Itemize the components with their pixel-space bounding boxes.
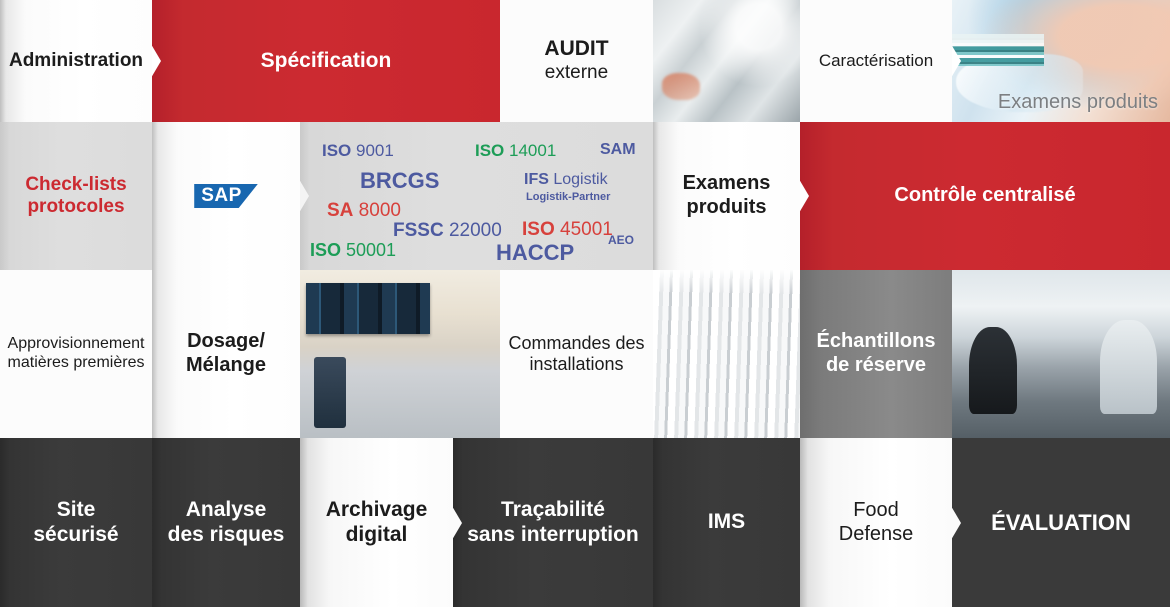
controle-centralise-label: Contrôle centralisé xyxy=(888,184,1081,208)
certification-cloud: ISO 9001 ISO 14001 SAM BRCGS IFS Logisti… xyxy=(300,122,653,270)
audit-word: AUDIT xyxy=(544,37,608,60)
cell-sap[interactable]: SAP xyxy=(152,122,300,270)
tracabilite-label: Traçabilité sans interruption xyxy=(461,498,645,548)
cell-audit-externe[interactable]: AUDIT externe xyxy=(500,0,653,122)
food-line2: Defense xyxy=(839,523,914,545)
analyse-line2: des risques xyxy=(168,523,285,546)
trac-line2: sans interruption xyxy=(467,523,639,546)
cert-fssc-22000: FSSC 22000 xyxy=(393,221,502,240)
dosage-line1: Dosage/ xyxy=(187,330,265,352)
cell-tracabilite[interactable]: Traçabilité sans interruption xyxy=(453,438,653,607)
cell-caracterisation[interactable]: Caractérisation xyxy=(800,0,952,122)
chevron-right-icon xyxy=(800,179,815,213)
ims-label: IMS xyxy=(702,510,751,535)
food-defense-label: Food Defense xyxy=(833,499,920,546)
cert-sam: SAM xyxy=(600,142,636,158)
dosage-line2: Mélange xyxy=(186,354,266,376)
cell-evaluation[interactable]: ÉVALUATION xyxy=(952,438,1170,607)
echantillons-line1: Échantillons xyxy=(817,330,936,352)
cell-check-lists[interactable]: Check-lists protocoles xyxy=(0,122,152,270)
echantillons-line2: de réserve xyxy=(826,354,926,376)
audit-externe-label: AUDIT externe xyxy=(538,37,614,84)
cell-photo-sample-tubes xyxy=(653,270,800,438)
examens-line2: produits xyxy=(687,196,767,218)
chart-strip-decor xyxy=(952,34,1044,66)
cell-ims[interactable]: IMS xyxy=(653,438,800,607)
food-line1: Food xyxy=(853,499,899,521)
administration-label: Administration xyxy=(3,50,149,72)
cell-controle-centralise[interactable]: Contrôle centralisé xyxy=(800,122,1170,270)
quality-matrix-diagram: Administration Spécification AUDIT exter… xyxy=(0,0,1170,607)
approv-line1: Approvisionnement xyxy=(8,335,145,352)
sap-logo: SAP xyxy=(194,184,258,208)
check-lists-line1: Check-lists xyxy=(25,174,126,195)
examens-line1: Examens xyxy=(683,172,771,194)
cert-iso-14001: ISO 14001 xyxy=(475,142,556,159)
check-lists-label: Check-lists protocoles xyxy=(19,174,132,219)
cert-iso-9001: ISO 9001 xyxy=(322,142,394,159)
cell-commandes-installations[interactable]: Commandes des installations xyxy=(500,270,653,438)
evaluation-label: ÉVALUATION xyxy=(985,510,1137,536)
cert-brcgs: BRCGS xyxy=(360,170,439,192)
cell-photo-team-meeting xyxy=(952,270,1170,438)
control-room-photo xyxy=(300,270,500,438)
cell-archivage-digital[interactable]: Archivage digital xyxy=(300,438,453,607)
cell-examens-produits[interactable]: Examens produits xyxy=(653,122,800,270)
externe-word: externe xyxy=(545,62,608,83)
cell-specification[interactable]: Spécification xyxy=(152,0,500,122)
cell-approvisionnement[interactable]: Approvisionnement matières premières xyxy=(0,270,152,438)
team-meeting-photo xyxy=(952,270,1170,438)
examens-produits-label: Examens produits xyxy=(677,172,777,219)
analyse-risques-label: Analyse des risques xyxy=(162,498,291,548)
cert-iso-50001: ISO 50001 xyxy=(310,241,396,259)
cert-iso-45001: ISO 45001 xyxy=(522,220,613,239)
archivage-label: Archivage digital xyxy=(320,498,434,548)
cert-sa-8000: SA 8000 xyxy=(327,201,401,220)
archivage-line1: Archivage xyxy=(326,498,428,521)
echantillons-label: Échantillons de réserve xyxy=(811,330,942,377)
cell-dosage-melange[interactable]: Dosage/ Mélange xyxy=(152,270,300,438)
cert-logistik-partner: Logistik-Partner xyxy=(526,192,610,203)
commandes-line1: Commandes des xyxy=(508,333,644,353)
approvisionnement-label: Approvisionnement matières premières xyxy=(2,335,151,373)
check-lists-line2: protocoles xyxy=(27,196,124,217)
cell-photo-clean-room xyxy=(653,0,800,122)
commandes-label: Commandes des installations xyxy=(502,333,650,375)
site-securise-label: Site sécurisé xyxy=(27,498,124,548)
cell-analyse-risques[interactable]: Analyse des risques xyxy=(152,438,300,607)
cell-food-defense[interactable]: Food Defense xyxy=(800,438,952,607)
approv-line2: matières premières xyxy=(8,354,145,371)
cell-photo-microscope: Examens produits xyxy=(952,0,1170,122)
dosage-melange-label: Dosage/ Mélange xyxy=(180,330,272,377)
sample-tubes-photo xyxy=(653,270,800,438)
chevron-right-icon xyxy=(152,44,167,78)
analyse-line1: Analyse xyxy=(186,498,267,521)
cert-ifs-logistik: IFS Logistik xyxy=(524,172,608,188)
clean-room-photo xyxy=(653,0,800,122)
commandes-line2: installations xyxy=(529,354,623,374)
specification-label: Spécification xyxy=(255,49,398,74)
cell-certifications[interactable]: ISO 9001 ISO 14001 SAM BRCGS IFS Logisti… xyxy=(300,122,653,270)
cert-aeo: AEO xyxy=(608,234,634,246)
site-line1: Site xyxy=(57,498,96,521)
chevron-right-icon xyxy=(952,506,967,540)
cell-administration[interactable]: Administration xyxy=(0,0,152,122)
archivage-line2: digital xyxy=(346,523,408,546)
trac-line1: Traçabilité xyxy=(501,498,605,521)
cell-site-securise[interactable]: Site sécurisé xyxy=(0,438,152,607)
site-line2: sécurisé xyxy=(33,523,118,546)
cell-echantillons-reserve[interactable]: Échantillons de réserve xyxy=(800,270,952,438)
examens-produits-watermark: Examens produits xyxy=(998,91,1158,115)
caracterisation-label: Caractérisation xyxy=(813,51,939,71)
cert-haccp: HACCP xyxy=(496,242,574,264)
cell-photo-control-room xyxy=(300,270,500,438)
